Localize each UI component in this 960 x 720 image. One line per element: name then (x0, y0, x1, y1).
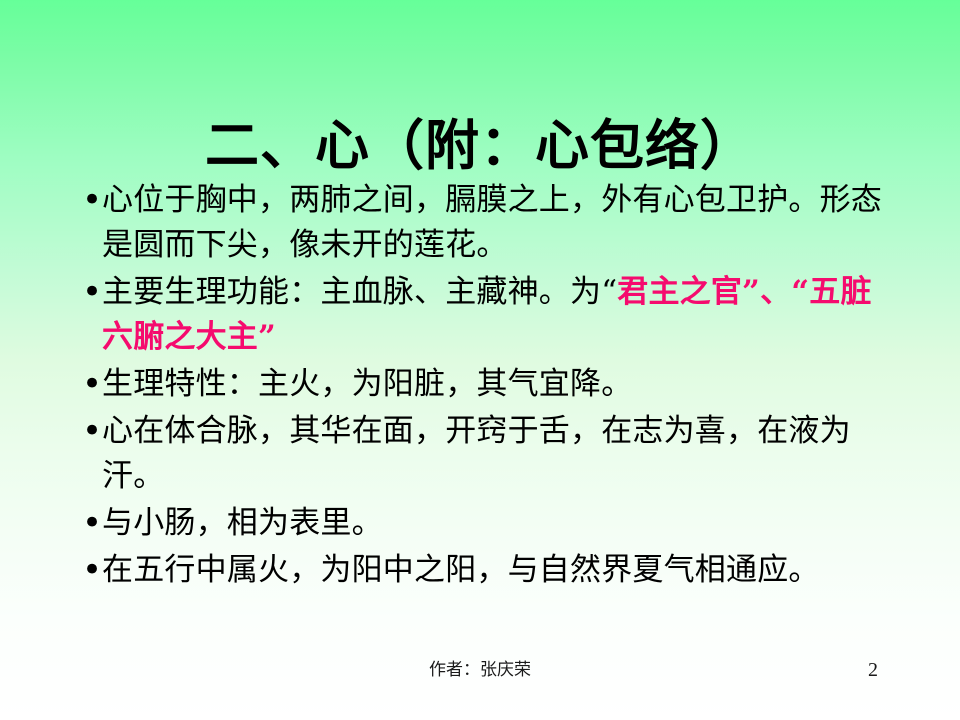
bullet-point-icon: • (72, 270, 102, 315)
bullet-point-icon: • (72, 409, 102, 454)
body-text: 心在体合脉，其华在面，开窍于舌，在志为喜，在液为汗。 (102, 413, 851, 494)
bullet-location: 心位于胸中，两肺之间，膈膜之上，外有心包卫护。形态是圆而下尖，像未开的莲花。 (102, 178, 888, 268)
slide-body-content: •心位于胸中，两肺之间，膈膜之上，外有心包卫护。形态是圆而下尖，像未开的莲花。•… (72, 178, 888, 595)
bullet-small-intestine: 与小肠，相为表里。 (102, 501, 888, 546)
body-text: 与小肠，相为表里。 (102, 505, 383, 541)
list-item: •主要生理功能：主血脉、主藏神。为“君主之官”、“五脏六腑之大主” (72, 270, 888, 360)
list-item: •生理特性：主火，为阳脏，其气宜降。 (72, 362, 888, 407)
bullet-correspondences: 心在体合脉，其华在面，开窍于舌，在志为喜，在液为汗。 (102, 409, 888, 499)
bullet-point-icon: • (72, 501, 102, 546)
list-item: •心在体合脉，其华在面，开窍于舌，在志为喜，在液为汗。 (72, 409, 888, 499)
bullet-characteristics: 生理特性：主火，为阳脏，其气宜降。 (102, 362, 888, 407)
bullet-point-icon: • (72, 362, 102, 407)
body-text: 心位于胸中，两肺之间，膈膜之上，外有心包卫护。形态是圆而下尖，像未开的莲花。 (102, 182, 882, 263)
bullet-functions: 主要生理功能：主血脉、主藏神。为“君主之官”、“五脏六腑之大主” (102, 270, 888, 360)
bullet-five-phases: 在五行中属火，为阳中之阳，与自然界夏气相通应。 (102, 548, 888, 593)
presentation-slide: 二、心（附：心包络） •心位于胸中，两肺之间，膈膜之上，外有心包卫护。形态是圆而… (0, 0, 960, 720)
bullet-point-icon: • (72, 178, 102, 223)
slide-page-number: 2 (868, 658, 878, 682)
body-text: 主要生理功能：主血脉、主藏神。为“ (102, 274, 617, 310)
list-item: •在五行中属火，为阳中之阳，与自然界夏气相通应。 (72, 548, 888, 593)
bullet-point-icon: • (72, 548, 102, 593)
list-item: •与小肠，相为表里。 (72, 501, 888, 546)
list-item: •心位于胸中，两肺之间，膈膜之上，外有心包卫护。形态是圆而下尖，像未开的莲花。 (72, 178, 888, 268)
page-title: 二、心（附：心包络） (205, 114, 755, 176)
body-text: 生理特性：主火，为阳脏，其气宜降。 (102, 366, 632, 402)
footer-author-label: 作者：张庆荣 (0, 658, 960, 682)
body-text: 在五行中属火，为阳中之阳，与自然界夏气相通应。 (102, 552, 820, 588)
